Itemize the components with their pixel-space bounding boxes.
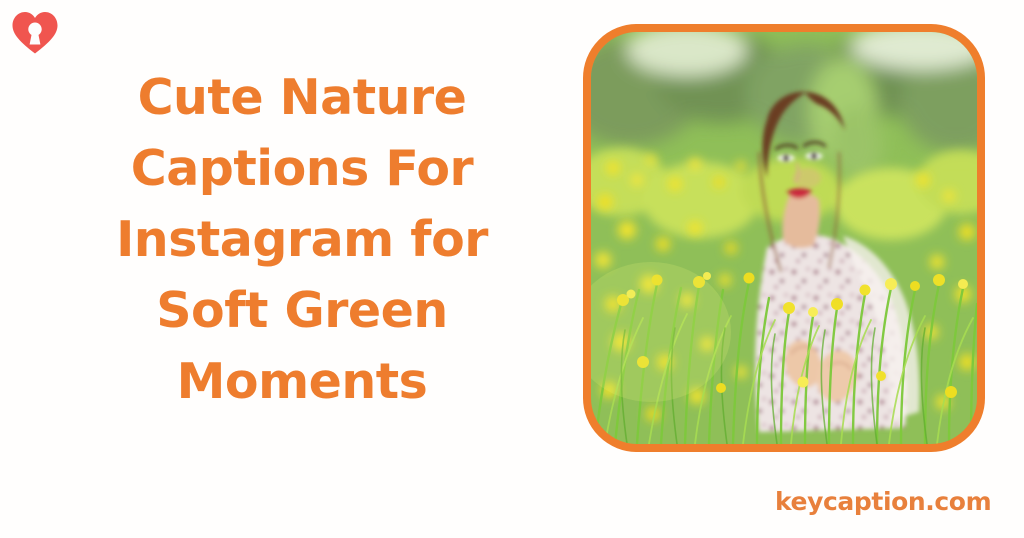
title-line-2: Captions For (52, 133, 552, 204)
site-url[interactable]: keycaption.com (775, 487, 1015, 516)
photo-frame: 0%#e9f0e0 40%#9fb483 100%#7e9b62 0%#c6dd… (583, 24, 985, 452)
pinterest-pin-graphic: Cute Nature Captions For Instagram for S… (0, 0, 1024, 538)
title-line-5: Moments (52, 346, 552, 417)
title-line-1: Cute Nature (52, 62, 552, 133)
title-line-3: Instagram for (52, 204, 552, 275)
title-line-4: Soft Green (52, 275, 552, 346)
woman-in-mustard-flower-field: 0%#e9f0e0 40%#9fb483 100%#7e9b62 0%#c6dd… (591, 32, 977, 444)
page-title: Cute Nature Captions For Instagram for S… (52, 62, 552, 417)
heart-keyhole-logo[interactable] (11, 9, 59, 57)
